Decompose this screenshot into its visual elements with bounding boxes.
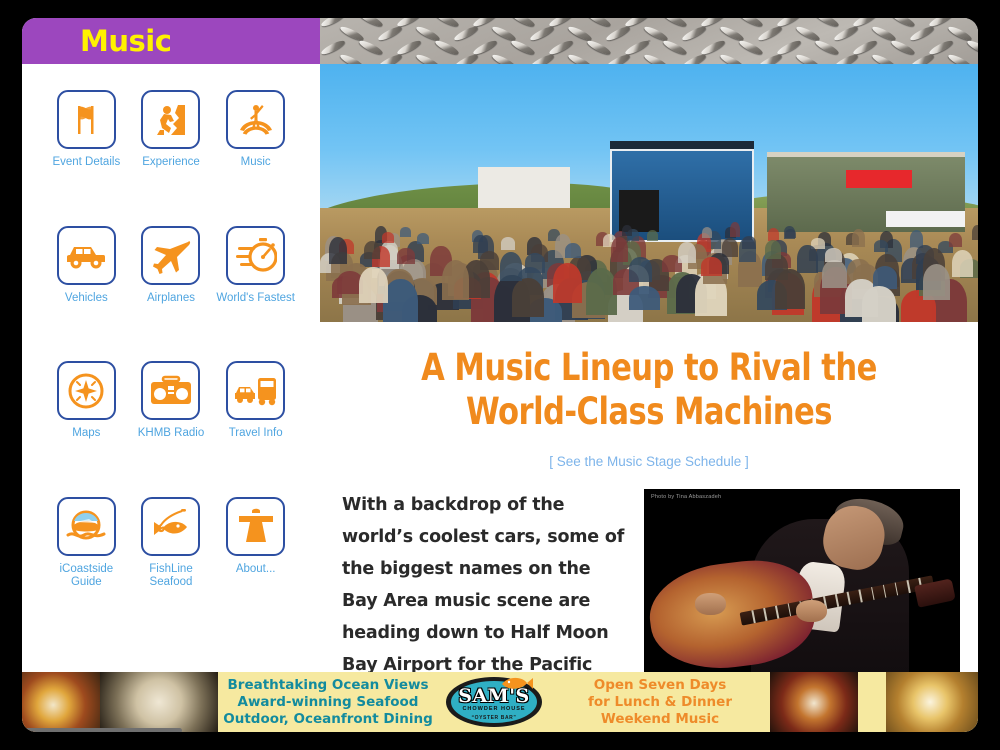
ad-photo-oyster-platter bbox=[100, 672, 218, 732]
diamond-plate-tread bbox=[947, 52, 973, 64]
diamond-plate-tread bbox=[567, 52, 593, 64]
crowd-person bbox=[822, 260, 846, 288]
sidebar-item-label: Travel Info bbox=[229, 427, 283, 441]
diamond-plate-tread bbox=[586, 38, 612, 56]
sidebar-item-khmb-radio[interactable]: KHMB Radio bbox=[129, 361, 214, 441]
crowd-person bbox=[629, 286, 660, 311]
airplane-icon[interactable] bbox=[141, 226, 200, 285]
crowd-person bbox=[442, 260, 470, 300]
ad-photo-cioppino bbox=[770, 672, 858, 732]
diamond-plate-tread bbox=[415, 52, 441, 64]
crowd-person bbox=[701, 257, 722, 275]
car-and-bus-icon[interactable] bbox=[226, 361, 285, 420]
ad-right-line-2: for Lunch & Dinner bbox=[588, 694, 732, 711]
diamond-plate-tread bbox=[909, 24, 935, 42]
guitarist-strumming-hand bbox=[695, 593, 727, 615]
diamond-plate-tread bbox=[586, 18, 612, 29]
ad-right-copy: Open Seven Days for Lunch & Dinner Weeke… bbox=[550, 672, 770, 732]
ad-left-line-3: Outdoor, Oceanfront Dining bbox=[223, 711, 433, 728]
diamond-plate-tread bbox=[738, 38, 764, 56]
crowd-person bbox=[874, 240, 888, 252]
diamond-plate-tread bbox=[890, 38, 916, 56]
sidebar-item-world-s-fastest[interactable]: World's Fastest bbox=[213, 226, 298, 306]
crowd-person bbox=[329, 237, 347, 263]
ad-left-line-1: Breathtaking Ocean Views bbox=[228, 677, 429, 694]
crowd-person bbox=[952, 250, 973, 277]
scrollbar-thumb[interactable] bbox=[22, 728, 182, 732]
article-headline: A Music Lineup to Rival the World-Class … bbox=[346, 322, 951, 434]
crossed-flags-icon[interactable] bbox=[57, 90, 116, 149]
article-block: With a backdrop of the world’s coolest c… bbox=[320, 489, 978, 672]
sams-logo: SAM'S CHOWDER HOUSE “OYSTER BAR” bbox=[446, 677, 542, 727]
diamond-plate-tread bbox=[510, 38, 536, 56]
diamond-plate-tread bbox=[719, 52, 745, 64]
crowd-person bbox=[400, 227, 410, 237]
diamond-plate-tread bbox=[358, 18, 384, 29]
crowd-person bbox=[765, 240, 781, 259]
sidebar-item-label: Maps bbox=[72, 427, 100, 441]
sidebar-item-label: Airplanes bbox=[147, 292, 195, 306]
ad-photo-lobster-roll bbox=[886, 672, 978, 732]
guitar-fret bbox=[775, 606, 779, 619]
guitar-fret bbox=[847, 592, 851, 605]
ad-right-line-3: Weekend Music bbox=[601, 711, 719, 728]
ad-logo-wrapper: SAM'S CHOWDER HOUSE “OYSTER BAR” bbox=[438, 672, 550, 732]
crowd-person bbox=[647, 230, 658, 241]
guitar-fret bbox=[751, 611, 755, 624]
crowd-person bbox=[622, 225, 632, 236]
crowd-person bbox=[742, 236, 756, 250]
sidebar-item-label: Music bbox=[241, 156, 271, 170]
crowd-person bbox=[364, 241, 380, 260]
crowd-person bbox=[775, 269, 805, 309]
crowd-person bbox=[852, 229, 865, 247]
diamond-plate-tread bbox=[491, 52, 517, 64]
guitar-fret bbox=[906, 581, 910, 594]
crowd-person bbox=[784, 226, 795, 239]
crowd-person bbox=[553, 263, 582, 303]
performer-stage-icon[interactable] bbox=[226, 90, 285, 149]
sidebar-item-label: FishLine Seafood bbox=[129, 563, 213, 590]
jeep-icon[interactable] bbox=[57, 226, 116, 285]
crowd-person bbox=[972, 225, 978, 240]
diamond-plate-tread bbox=[795, 52, 821, 64]
crowd-person bbox=[923, 264, 951, 300]
sidebar-item-label: About... bbox=[236, 563, 276, 577]
diamond-plate-tread bbox=[681, 24, 707, 42]
crowd-person bbox=[417, 233, 429, 244]
sidebar-item-experience[interactable]: Experience bbox=[129, 90, 214, 170]
diamond-plate-tread bbox=[453, 24, 479, 42]
ad-left-line-2: Award-winning Seafood bbox=[238, 694, 419, 711]
ad-gap bbox=[858, 672, 886, 732]
diamond-plate-tread bbox=[434, 38, 460, 56]
sidebar-item-label: KHMB Radio bbox=[138, 427, 204, 441]
stopwatch-speed-icon[interactable] bbox=[226, 226, 285, 285]
sams-chowder-house-ad[interactable]: Breathtaking Ocean Views Award-winning S… bbox=[22, 672, 978, 732]
sidebar-item-label: Experience bbox=[142, 156, 200, 170]
header-row: Music bbox=[22, 18, 978, 64]
person-climbing-icon[interactable] bbox=[141, 90, 200, 149]
diamond-plate-tread bbox=[814, 38, 840, 56]
page-title-bar: Music bbox=[22, 18, 320, 64]
crowd-person bbox=[730, 222, 740, 237]
crowd-person bbox=[525, 253, 545, 273]
diamond-plate-tread bbox=[662, 18, 688, 29]
diamond-plate-tread bbox=[966, 18, 978, 29]
sidebar-item-airplanes[interactable]: Airplanes bbox=[129, 226, 214, 306]
diamond-plate-banner bbox=[320, 18, 978, 64]
sidebar-item-label: Event Details bbox=[52, 156, 120, 170]
diamond-plate-tread bbox=[738, 18, 764, 29]
photo-credit: Photo by Tina Abbaszadeh bbox=[651, 494, 721, 500]
fish-logo-icon bbox=[500, 674, 534, 692]
main-content: A Music Lineup to Rival the World-Class … bbox=[320, 64, 978, 672]
diamond-plate-tread bbox=[510, 18, 536, 29]
sidebar-item-label: World's Fastest bbox=[216, 292, 295, 306]
hero-red-sign bbox=[846, 170, 912, 188]
guitar-fret bbox=[787, 604, 791, 617]
crowd-person bbox=[949, 233, 962, 248]
ad-right-line-1: Open Seven Days bbox=[594, 677, 727, 694]
crowd-person bbox=[797, 245, 817, 274]
guitarist-photo: Photo by Tina Abbaszadeh bbox=[644, 489, 960, 672]
article-body-text: With a backdrop of the world’s coolest c… bbox=[342, 489, 628, 672]
diamond-plate-tread bbox=[890, 18, 916, 29]
sidebar-item-music[interactable]: Music bbox=[213, 90, 298, 170]
sidebar-item-travel-info[interactable]: Travel Info bbox=[213, 361, 298, 441]
crowd-person bbox=[862, 286, 896, 322]
guitar-fret bbox=[835, 594, 839, 607]
diamond-plate-tread bbox=[966, 38, 978, 56]
ad-left-copy: Breathtaking Ocean Views Award-winning S… bbox=[218, 672, 438, 732]
guitar-fret bbox=[859, 590, 863, 603]
sidebar-item-icoastside-guide[interactable]: iCoastside Guide bbox=[44, 497, 129, 590]
diamond-plate-tread bbox=[871, 52, 897, 64]
lighthouse-icon[interactable] bbox=[226, 497, 285, 556]
logo-tagline: “OYSTER BAR” bbox=[472, 715, 517, 721]
crowd-person bbox=[629, 257, 652, 282]
hero-festival-photo bbox=[320, 64, 978, 322]
crowd-person bbox=[678, 242, 696, 264]
crowd-person bbox=[501, 237, 515, 250]
crowd-person bbox=[825, 248, 842, 262]
crowd-person bbox=[382, 232, 394, 243]
guitar-fret bbox=[871, 587, 875, 600]
sidebar-item-maps[interactable]: Maps bbox=[44, 361, 129, 441]
sidebar-item-label: Vehicles bbox=[65, 292, 108, 306]
crowd-person bbox=[768, 228, 779, 240]
diamond-plate-tread bbox=[833, 24, 859, 42]
page-title: Music bbox=[80, 24, 171, 58]
diamond-plate-tread bbox=[605, 24, 631, 42]
hero-crowd bbox=[320, 188, 978, 322]
app-window: Music Event Details Experience Music bbox=[22, 18, 978, 732]
diamond-plate-tread bbox=[757, 24, 783, 42]
sidebar-icon-grid: Event Details Experience Music Vehicles … bbox=[22, 90, 320, 590]
diamond-plate-tread bbox=[358, 38, 384, 56]
guitarist-illustration bbox=[644, 489, 960, 672]
crowd-person bbox=[359, 267, 387, 303]
guitarist-fretting-hand bbox=[796, 600, 828, 622]
sidebar-item-fishline-seafood[interactable]: FishLine Seafood bbox=[129, 497, 214, 590]
crowd-person bbox=[702, 227, 713, 238]
diamond-plate-tread bbox=[814, 18, 840, 29]
sidebar-item-event-details[interactable]: Event Details bbox=[44, 90, 129, 170]
crowd-person bbox=[500, 252, 522, 281]
diamond-plate-tread bbox=[434, 18, 460, 29]
diamond-plate-tread bbox=[377, 24, 403, 42]
ad-photo-lobster-plate bbox=[22, 672, 100, 732]
compass-icon[interactable] bbox=[57, 361, 116, 420]
crowd-person bbox=[383, 279, 418, 322]
diamond-plate-tread bbox=[529, 24, 555, 42]
boombox-radio-icon[interactable] bbox=[141, 361, 200, 420]
crowd-person bbox=[611, 237, 628, 262]
crowd-person bbox=[565, 243, 581, 259]
crowd-person bbox=[397, 248, 415, 264]
horizontal-scrollbar[interactable] bbox=[22, 728, 978, 732]
crowd-person bbox=[512, 278, 544, 317]
fish-and-hook-icon[interactable] bbox=[141, 497, 200, 556]
coastside-sun-wave-icon[interactable] bbox=[57, 497, 116, 556]
diamond-plate-tread bbox=[662, 38, 688, 56]
logo-sub: CHOWDER HOUSE bbox=[462, 706, 525, 713]
guitar-fret bbox=[882, 585, 886, 598]
diamond-plate-tread bbox=[643, 52, 669, 64]
diamond-plate-tread bbox=[339, 52, 365, 64]
sidebar-item-label: iCoastside Guide bbox=[44, 563, 128, 590]
sidebar-item-vehicles[interactable]: Vehicles bbox=[44, 226, 129, 306]
sidebar-item-about[interactable]: About... bbox=[213, 497, 298, 590]
guitar-fret bbox=[763, 608, 767, 621]
guitar-fret bbox=[894, 583, 898, 596]
music-stage-schedule-link[interactable]: [ See the Music Stage Schedule ] bbox=[320, 454, 978, 469]
sidebar-nav: Event Details Experience Music Vehicles … bbox=[22, 64, 320, 672]
